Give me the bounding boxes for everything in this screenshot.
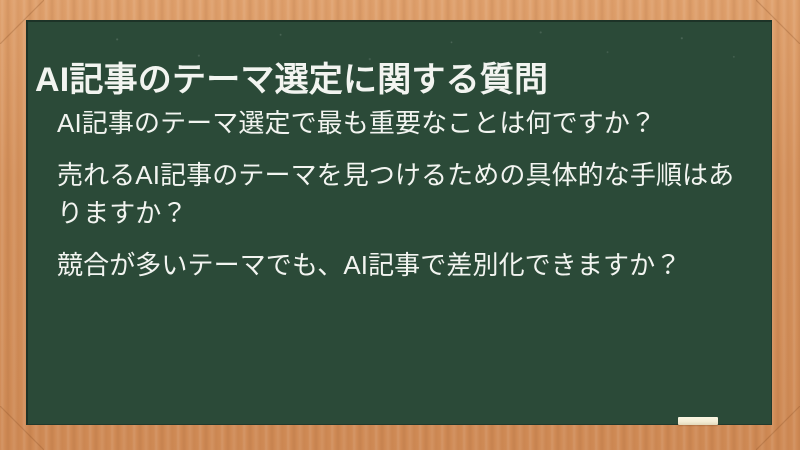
page-title: AI記事のテーマ選定に関する質問 <box>35 58 759 102</box>
question-list: AI記事のテーマ選定で最も重要なことは何ですか？ 売れるAI記事のテーマを見つけ… <box>57 104 747 298</box>
list-item: 競合が多いテーマでも、AI記事で差別化できますか？ <box>57 246 747 284</box>
list-item: 売れるAI記事のテーマを見つけるための具体的な手順はありますか？ <box>57 156 747 232</box>
chalkboard-surface: AI記事のテーマ選定に関する質問 AI記事のテーマ選定で最も重要なことは何ですか… <box>26 20 772 425</box>
chalkboard-slide: AI記事のテーマ選定に関する質問 AI記事のテーマ選定で最も重要なことは何ですか… <box>0 0 800 450</box>
list-item: AI記事のテーマ選定で最も重要なことは何ですか？ <box>57 104 747 142</box>
chalk-stick-icon <box>678 417 718 425</box>
